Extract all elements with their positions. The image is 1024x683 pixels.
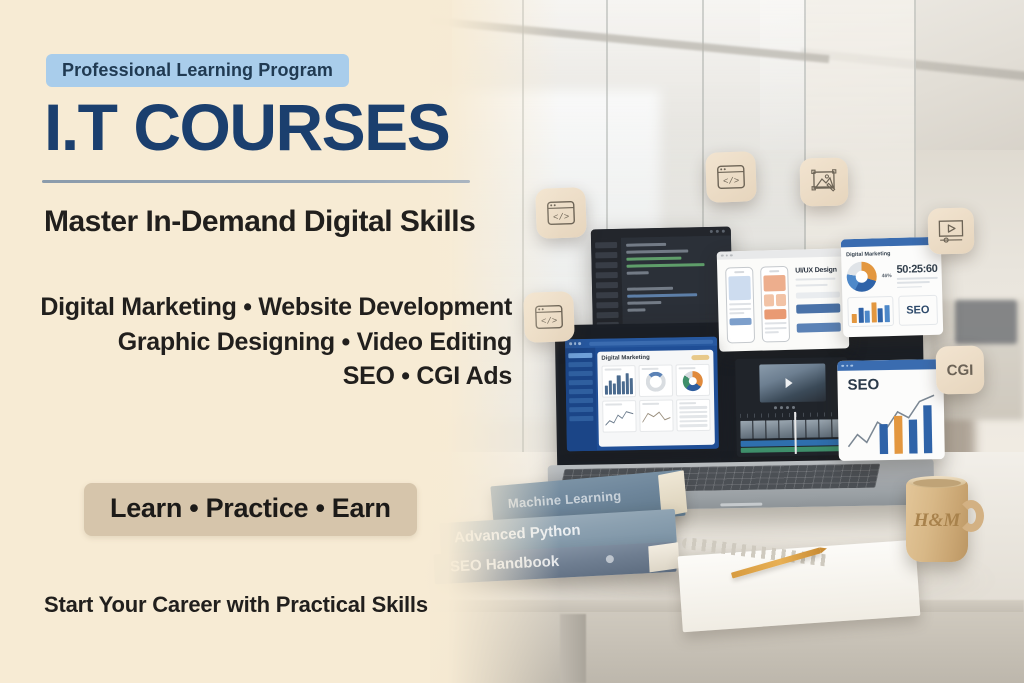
window-controls-icon [710, 230, 725, 233]
play-icon [785, 378, 792, 388]
phone-mockup-login [725, 267, 755, 344]
video-editing-timeline [735, 357, 849, 457]
subtitle: Master In-Demand Digital Skills [44, 205, 475, 239]
book-logo [606, 555, 614, 563]
laptop-trackpad-notch [720, 503, 762, 507]
widget-bar-chart [602, 365, 637, 398]
course-line: Digital Marketing • Website Development [0, 290, 512, 325]
uiux-design-panel: UI/UX Design [717, 248, 850, 351]
video-track-filmstrip [740, 419, 844, 439]
page-title: I.T COURSES [44, 94, 449, 160]
digital-marketing-dashboard: Digital Marketing [565, 337, 719, 452]
book-pages [648, 542, 679, 572]
design-image-icon [800, 158, 849, 207]
dashboard-sidebar [565, 348, 597, 452]
marketing-donut-chart [846, 261, 877, 292]
widget-gauge [638, 364, 673, 397]
phone-mockup-feed [760, 266, 790, 343]
seo-chart-card: SEO [837, 359, 945, 461]
video-play-icon [928, 208, 975, 255]
text-content: Professional Learning Program I.T COURSE… [0, 0, 560, 683]
cta-banner: Learn • Practice • Earn [84, 483, 417, 536]
mug-coffee-surface [913, 479, 961, 487]
marketing-kpi-card: Digital Marketing 46% 50:25:60 [841, 237, 944, 338]
transport-controls-icon [774, 406, 795, 409]
widget-table [676, 399, 711, 432]
widget-donut [675, 364, 710, 397]
seo-chart-plot [846, 393, 939, 455]
footer-tagline: Start Your Career with Practical Skills [44, 592, 428, 618]
background-monitor [955, 300, 1017, 344]
uiux-primary-button [796, 304, 840, 314]
audio-track-2 [741, 446, 845, 453]
svg-text:</>: </> [723, 176, 740, 187]
marketing-card-title: Digital Marketing [846, 250, 936, 258]
desk-leg [560, 614, 586, 683]
mug-logo: H&M [906, 510, 968, 532]
course-line: SEO • CGI Ads [0, 359, 512, 394]
program-badge: Professional Learning Program [46, 54, 349, 87]
dashboard-widget-grid [602, 364, 711, 433]
marketing-percent-label: 46% [882, 273, 892, 279]
course-line: Graphic Designing • Video Editing [0, 325, 512, 360]
marketing-timer: 50:25:60 [896, 263, 937, 276]
uiux-secondary-button [797, 322, 841, 332]
card-titlebar [837, 359, 943, 371]
cgi-badge: CGI [936, 346, 985, 395]
widget-line-chart [602, 400, 637, 433]
course-list: Digital Marketing • Website Development … [0, 290, 512, 394]
code-window-icon: </> [705, 151, 757, 203]
coffee-mug: H&M [906, 480, 968, 562]
title-divider [42, 180, 470, 183]
dashboard-action-button [691, 354, 709, 359]
dashboard-title: Digital Marketing [601, 355, 649, 362]
banner-canvas: UI/UX Design Digital Marketing [0, 0, 1024, 683]
uiux-panel-title: UI/UX Design [795, 267, 839, 275]
timeline-ruler [740, 412, 844, 418]
marketing-bar-chart [847, 296, 893, 327]
seo-card-title: SEO [847, 376, 879, 394]
address-bar [589, 339, 714, 345]
marketing-seo-tile: SEO [898, 295, 938, 326]
widget-area-chart [639, 399, 674, 432]
